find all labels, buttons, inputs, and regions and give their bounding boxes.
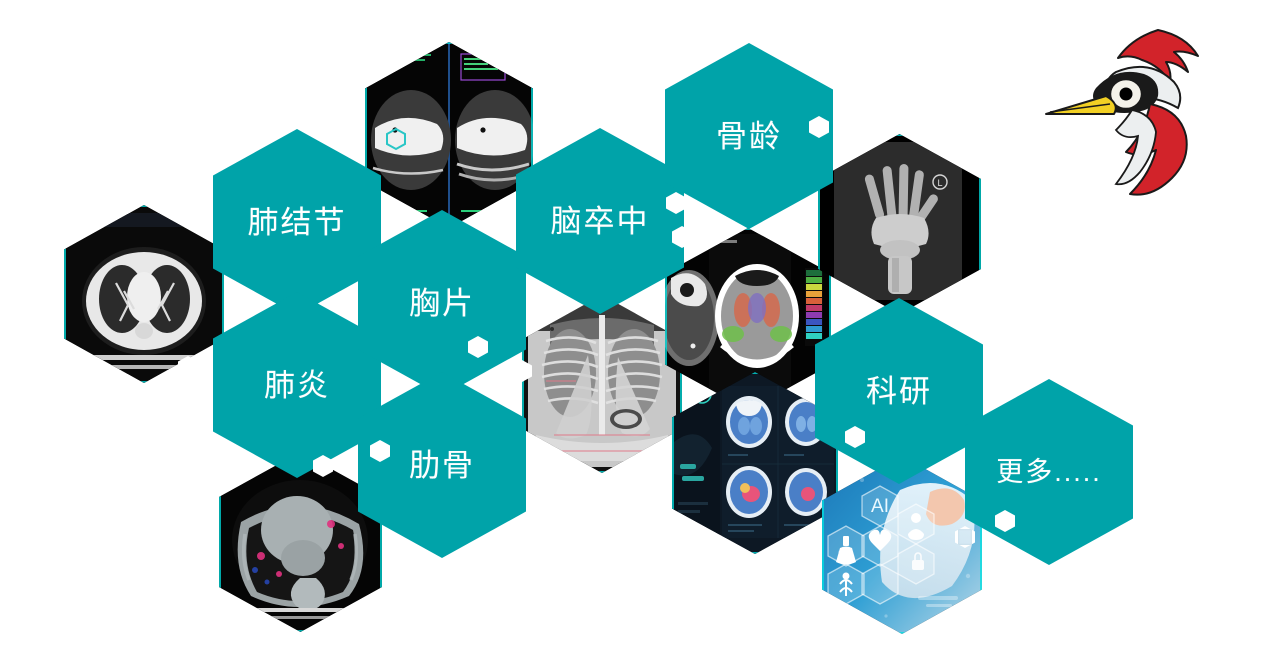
hex-label-rib[interactable]: 肋骨: [358, 372, 526, 558]
hex-label-text: 脑卒中: [551, 206, 650, 237]
hex-label-chest-film[interactable]: 胸片: [358, 210, 526, 396]
hex-image-rib-ct[interactable]: [219, 452, 382, 632]
hex-connector-dot: [845, 136, 865, 158]
hex-infographic-canvas: L: [0, 0, 1269, 655]
chest-xray-art: [522, 295, 682, 473]
hex-label-pneumonia[interactable]: 肺炎: [213, 292, 381, 478]
hex-label-text: 肺结节: [248, 207, 347, 238]
hex-image-chest-xray[interactable]: [522, 295, 682, 473]
hex-label-stroke[interactable]: 脑卒中: [516, 128, 684, 314]
hex-connector-dot: [321, 124, 341, 146]
hex-image-brain-panel[interactable]: [672, 372, 838, 554]
lung-nodule-ct-art: [365, 42, 533, 228]
hex-label-text: 肋骨: [409, 450, 475, 481]
hex-label-more[interactable]: 更多.....: [965, 379, 1133, 565]
hex-image-ai-medical[interactable]: AI: [822, 456, 982, 634]
hex-label-research[interactable]: 科研: [815, 298, 983, 484]
rib-ct-art: [219, 452, 382, 632]
ai-medical-art: AI: [822, 456, 982, 634]
hex-label-text: 骨龄: [716, 121, 782, 152]
hex-image-lung-nodule-ct[interactable]: [365, 42, 533, 228]
hex-image-hand-xray[interactable]: L: [818, 134, 981, 314]
hex-label-text: 更多.....: [996, 459, 1102, 486]
hex-image-chest-ct[interactable]: [64, 205, 224, 383]
woodpecker-logo: [1040, 18, 1215, 198]
hex-label-text: 肺炎: [264, 370, 330, 401]
hex-label-text: 科研: [866, 376, 932, 407]
hex-label-lung-nodule[interactable]: 肺结节: [213, 129, 381, 315]
hex-label-bone-age[interactable]: 骨龄: [665, 43, 833, 229]
chest-ct-art: [64, 205, 224, 383]
colorbar-legend: [805, 268, 823, 346]
ai-label-glyph: AI: [871, 496, 889, 517]
hex-label-text: 胸片: [409, 288, 475, 319]
hand-xray-art: L: [818, 134, 981, 314]
hand-xray-laterality-marker: L: [937, 178, 942, 188]
brain-panel-art: [672, 372, 838, 554]
